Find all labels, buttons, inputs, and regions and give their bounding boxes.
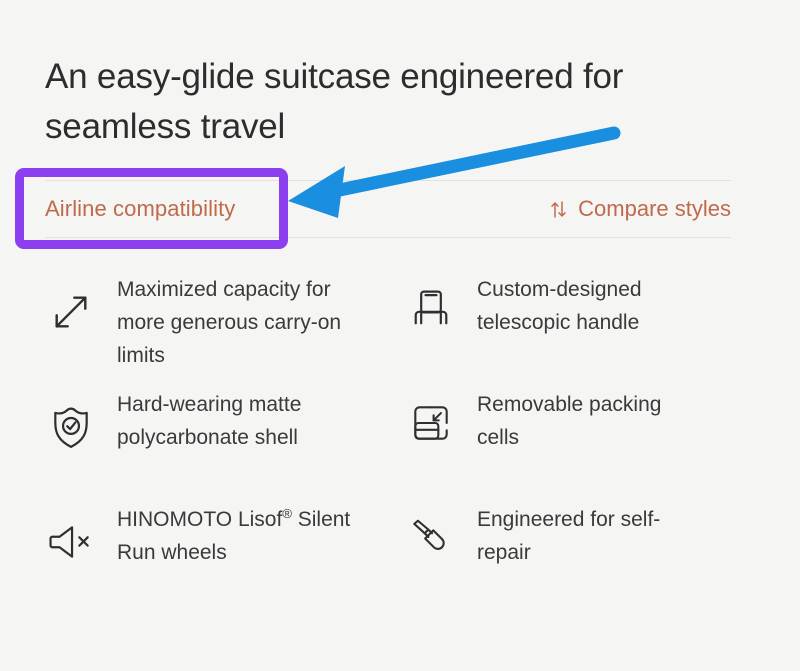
page-title: An easy-glide suitcase engineered for se… xyxy=(45,52,745,151)
feature-label: Custom-designed telescopic handle xyxy=(477,272,707,340)
product-feature-panel: An easy-glide suitcase engineered for se… xyxy=(0,0,800,671)
feature-item: Custom-designed telescopic handle xyxy=(405,272,745,387)
feature-item: HINOMOTO Lisof® Silent Run wheels xyxy=(45,502,405,617)
feature-item: Maximized capacity for more generous car… xyxy=(45,272,405,387)
packing-cell-icon xyxy=(405,397,457,449)
tab-airline-compatibility[interactable]: Airline compatibility xyxy=(45,196,235,222)
feature-label: Engineered for self-repair xyxy=(477,502,707,570)
compare-styles-label: Compare styles xyxy=(578,196,731,222)
suitcase-handle-icon xyxy=(405,282,457,334)
feature-label-brand: HINOMOTO Lisof xyxy=(117,508,282,531)
feature-item: Engineered for self-repair xyxy=(405,502,745,617)
feature-list: Maximized capacity for more generous car… xyxy=(45,272,745,617)
screwdriver-icon xyxy=(405,512,457,564)
feature-label: Removable packing cells xyxy=(477,387,707,455)
shield-check-icon xyxy=(45,401,97,453)
swap-arrows-icon xyxy=(548,199,569,220)
feature-label: Hard-wearing matte polycarbonate shell xyxy=(117,387,369,455)
tab-bar: Airline compatibility Compare styles xyxy=(45,180,731,238)
feature-label: Maximized capacity for more generous car… xyxy=(117,272,369,372)
speaker-mute-icon xyxy=(45,516,97,568)
feature-item: Removable packing cells xyxy=(405,387,745,502)
feature-item: Hard-wearing matte polycarbonate shell xyxy=(45,387,405,502)
registered-mark: ® xyxy=(282,506,292,521)
compare-styles-link[interactable]: Compare styles xyxy=(548,196,731,222)
feature-label: HINOMOTO Lisof® Silent Run wheels xyxy=(117,502,369,570)
expand-arrows-icon xyxy=(45,286,97,338)
